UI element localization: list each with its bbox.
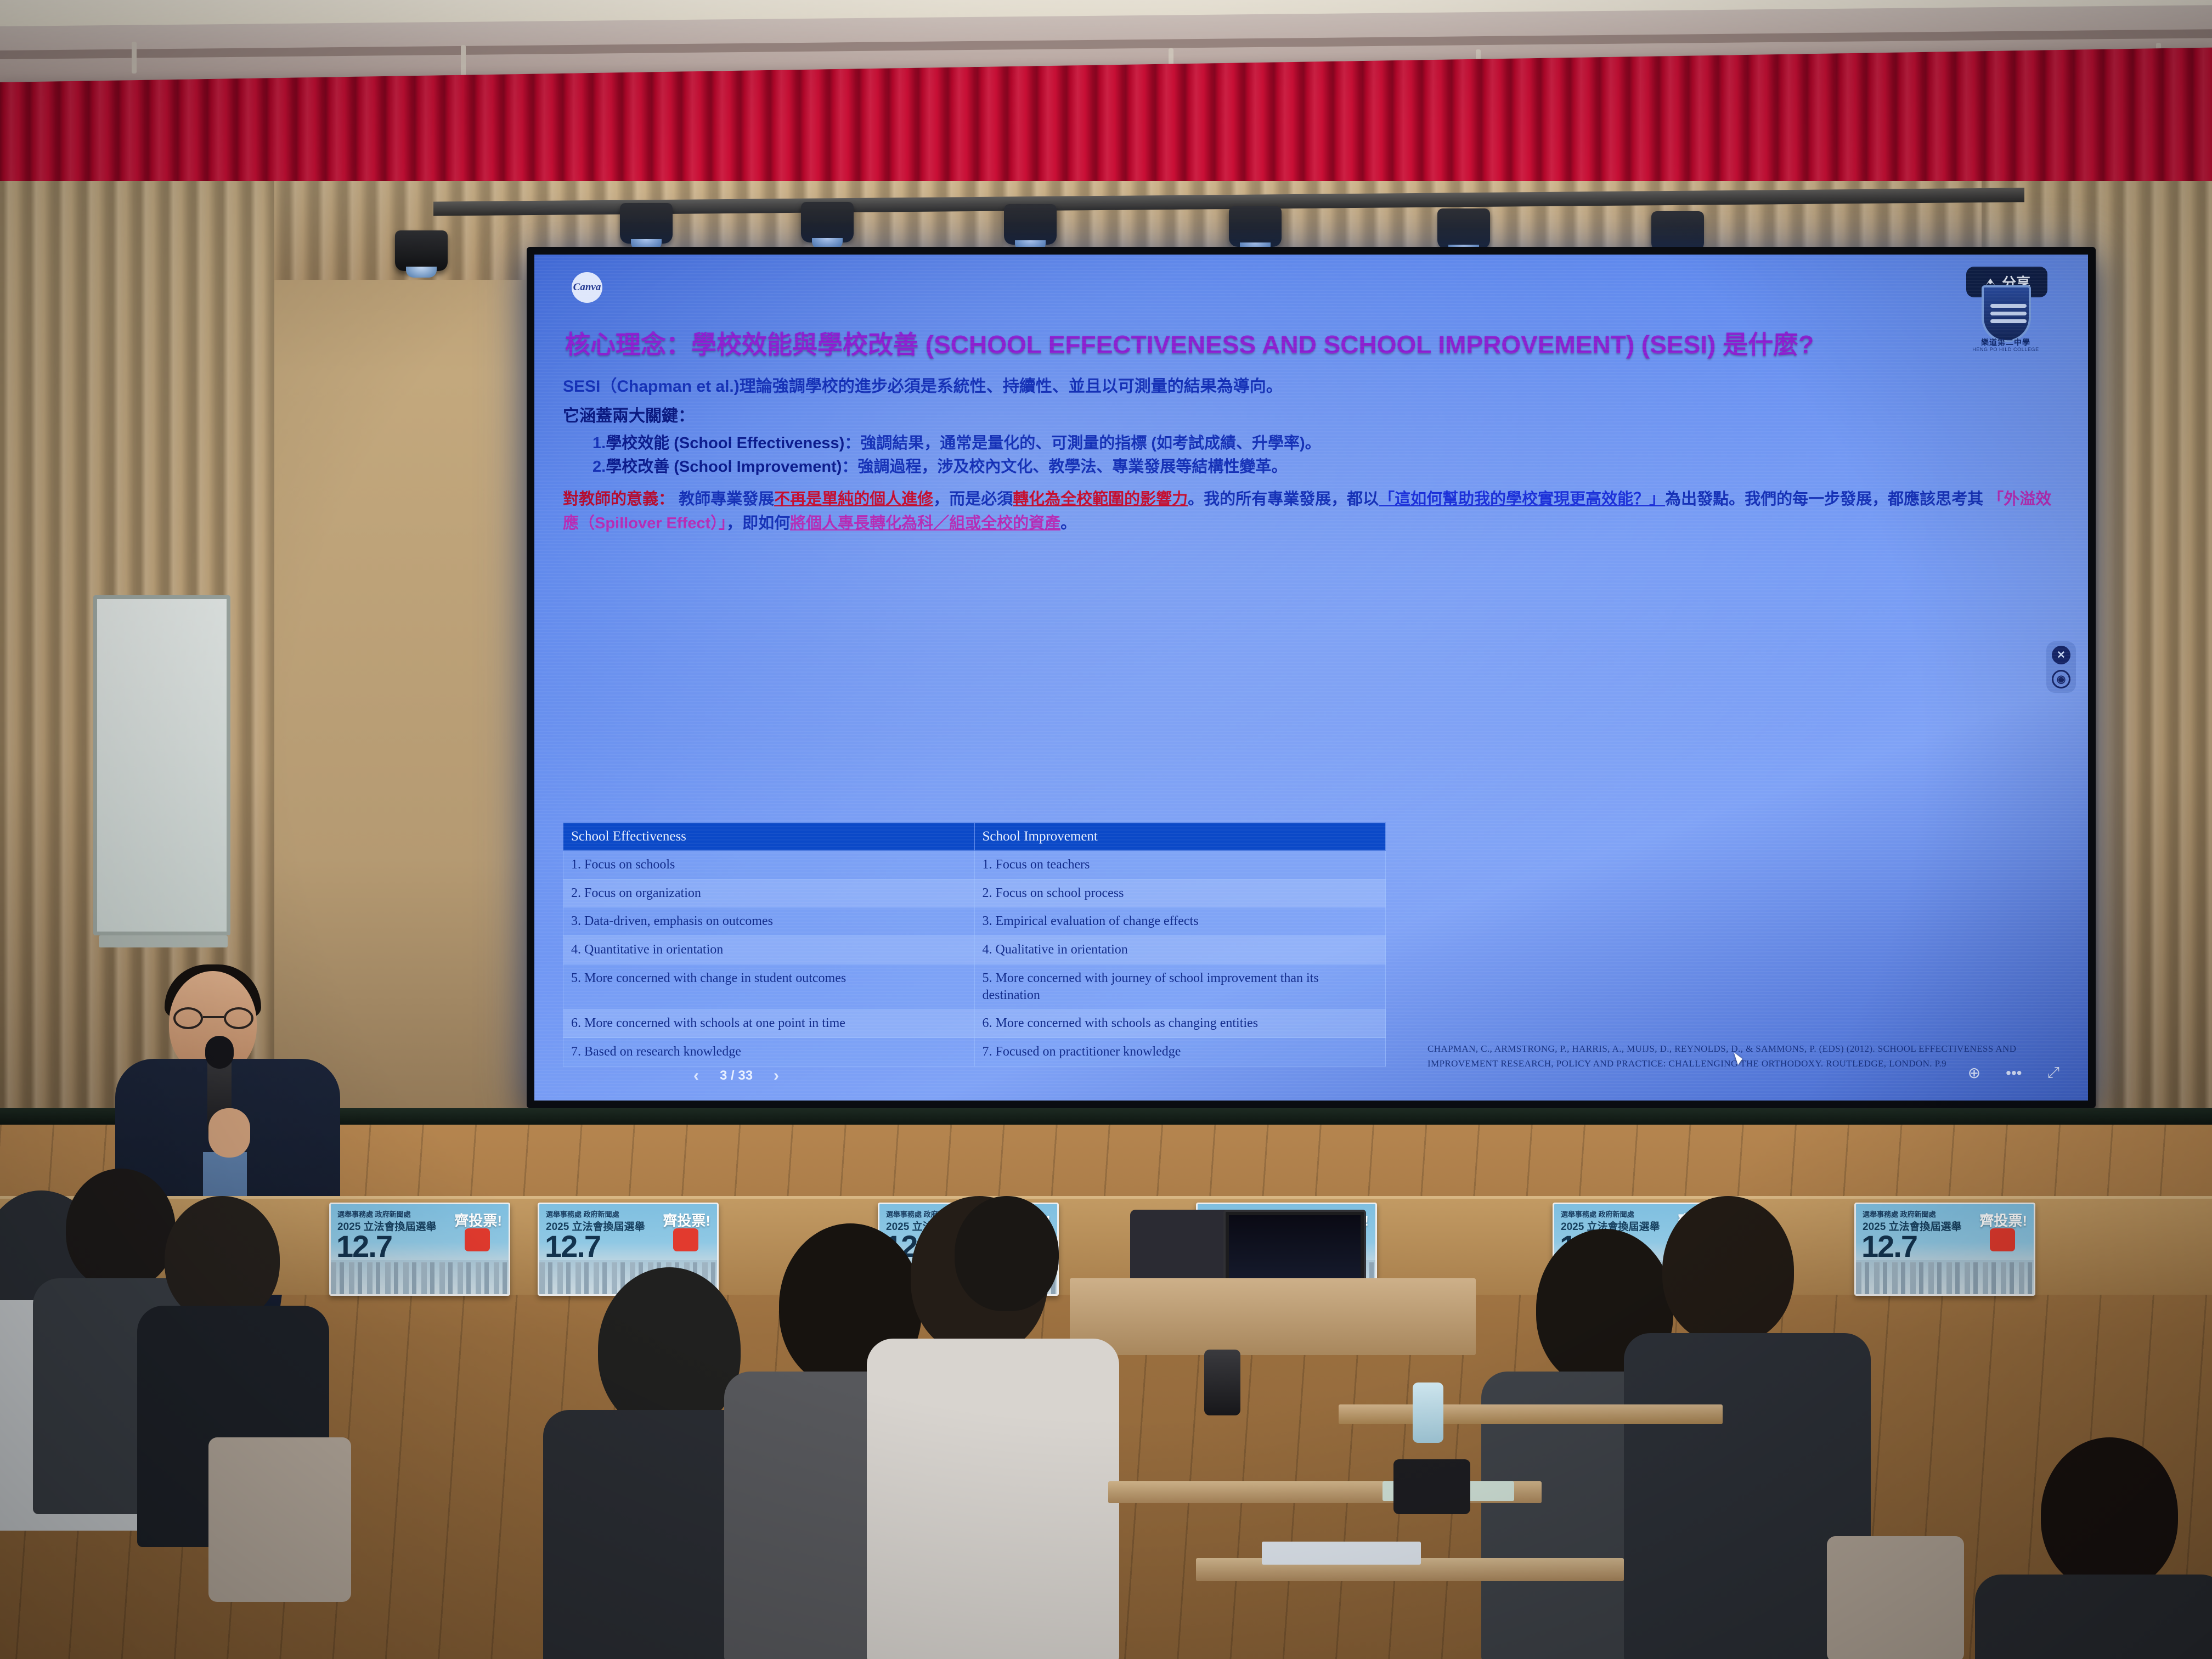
meaning-label: 對教師的意義： xyxy=(563,490,674,508)
list-item: 1.學校效能 (School Effectiveness)：強調結果，通常是量化… xyxy=(592,432,2059,456)
more-options-icon[interactable]: ••• xyxy=(2006,1064,2022,1082)
presentation-hall-scene: Canva 分享 樂道第二中學 HENG PO HILD COLLE xyxy=(0,0,2212,1659)
poster-mascot-icon xyxy=(465,1228,490,1251)
bullet-key: 學校效能 (School Effectiveness) xyxy=(606,435,844,452)
election-poster: 選舉事務處 政府新聞處 2025 立法會換屆選舉 12.7 齊投票! xyxy=(329,1203,510,1296)
record-icon[interactable]: ◉ xyxy=(2052,670,2070,689)
slide-content: Canva 分享 樂道第二中學 HENG PO HILD COLLE xyxy=(534,255,2088,1101)
table-row: 2. Focus on organization 2. Focus on sch… xyxy=(563,879,1386,907)
cell-improvement: 3. Empirical evaluation of change effect… xyxy=(974,907,1386,936)
meaning-seg-2: ，而是必須 xyxy=(933,490,1013,508)
bullet-number: 1. xyxy=(592,435,606,452)
edge-control-group[interactable]: ✕ ◉ xyxy=(2046,641,2076,693)
presenter-hand xyxy=(208,1108,250,1158)
water-bottle xyxy=(1413,1383,1443,1443)
meaning-seg-6: 。 xyxy=(1060,515,1076,532)
election-poster: 選舉事務處 政府新聞處 2025 立法會換屆選舉 12.7 齊投票! xyxy=(1854,1203,2035,1296)
audience-member xyxy=(598,1267,741,1432)
spotlight-icon xyxy=(620,203,673,244)
bullet-text: ：強調過程，涉及校內文化、教學法、專業發展等結構性變革。 xyxy=(842,458,1287,476)
list-item: 2.學校改善 (School Improvement)：強調過程，涉及校內文化、… xyxy=(592,455,2059,479)
bullet-text: ：強調結果，通常是量化的、可測量的指標 (如考試成績、升學率)。 xyxy=(844,435,1321,452)
table-row: 6. More concerned with schools at one po… xyxy=(563,1009,1386,1038)
projection-screen: Canva 分享 樂道第二中學 HENG PO HILD COLLE xyxy=(527,247,2096,1108)
close-icon[interactable]: ✕ xyxy=(2052,646,2070,664)
meaning-seg-3: 。我的所有專業發展，都以 xyxy=(1188,490,1379,508)
poster-date: 12.7 xyxy=(336,1228,392,1264)
audience-desk xyxy=(1339,1404,1723,1424)
slide-navigation[interactable]: ‹ 3 / 33 › xyxy=(693,1066,779,1085)
chair xyxy=(1827,1536,1964,1659)
cell-improvement: 2. Focus on school process xyxy=(974,879,1386,907)
key-points-list: 1.學校效能 (School Effectiveness)：強調結果，通常是量化… xyxy=(563,432,2059,479)
next-slide-button[interactable]: › xyxy=(774,1066,779,1085)
slide-surface: Canva 分享 樂道第二中學 HENG PO HILD COLLE xyxy=(534,255,2088,1101)
bullet-key: 學校改善 (School Improvement) xyxy=(606,458,842,476)
cell-improvement: 1. Focus on teachers xyxy=(974,851,1386,879)
audience-member xyxy=(66,1169,176,1289)
prev-slide-button[interactable]: ‹ xyxy=(693,1066,699,1085)
spotlight-icon xyxy=(801,202,854,242)
poster-header: 選舉事務處 政府新聞處 xyxy=(337,1209,411,1219)
table-body: 1. Focus on schools 1. Focus on teachers… xyxy=(563,851,1386,1066)
cell-effectiveness: 6. More concerned with schools at one po… xyxy=(563,1009,975,1038)
presenter-table xyxy=(1070,1278,1476,1355)
spotlight-icon xyxy=(1651,211,1704,252)
slide-lead-line: SESI（Chapman et al.)理論強調學校的進步必須是系統性、持續性、… xyxy=(563,374,2059,399)
curtain-hook xyxy=(132,42,137,74)
cell-effectiveness: 2. Focus on organization xyxy=(563,879,975,907)
meaning-seg-1: 教師專業發展 xyxy=(679,490,774,508)
audience-member xyxy=(867,1339,1119,1659)
table-row: 5. More concerned with change in student… xyxy=(563,964,1386,1009)
poster-header: 選舉事務處 政府新聞處 xyxy=(1561,1209,1634,1219)
slide-title: 核心理念：學校效能與學校改善 (SCHOOL EFFECTIVENESS AND… xyxy=(565,329,1827,361)
poster-date: 12.7 xyxy=(545,1228,600,1264)
table-row: 7. Based on research knowledge 7. Focuse… xyxy=(563,1038,1386,1066)
curtain-hook xyxy=(461,45,466,77)
audience-member xyxy=(2041,1437,2178,1591)
laptop xyxy=(1223,1210,1366,1286)
camera-bag xyxy=(1393,1459,1470,1514)
poster-slogan: 齊投票! xyxy=(1979,1210,2027,1230)
meaning-seg-4: 為出發點。我們的每一步發展，都應該思考其 xyxy=(1665,490,1988,508)
crest-shield-icon xyxy=(1982,285,2031,342)
whiteboard-tray xyxy=(99,935,228,947)
page-indicator: 3 / 33 xyxy=(720,1068,753,1084)
audience-member xyxy=(1975,1575,2212,1659)
eyeglasses-icon xyxy=(173,1007,253,1029)
poster-header: 選舉事務處 政府新聞處 xyxy=(546,1209,619,1219)
school-crest: 分享 樂道第二中學 HENG PO HILD COLLEGE xyxy=(1956,267,2055,354)
cell-effectiveness: 7. Based on research knowledge xyxy=(563,1038,975,1066)
meaning-seg-5: ，即如何 xyxy=(726,515,790,532)
spotlight-icon xyxy=(1229,206,1282,247)
poster-slogan: 齊投票! xyxy=(663,1210,710,1230)
canva-logo-icon: Canva xyxy=(572,272,602,303)
slide-lead-line-2: 它涵蓋兩大關鍵： xyxy=(563,402,2059,426)
cell-improvement: 6. More concerned with schools as changi… xyxy=(974,1009,1386,1038)
cell-effectiveness: 3. Data-driven, emphasis on outcomes xyxy=(563,907,975,936)
notebook xyxy=(1262,1542,1421,1565)
table-row: 1. Focus on schools 1. Focus on teachers xyxy=(563,851,1386,879)
meaning-underline-red-2: 轉化為全校範圍的影響力 xyxy=(1013,490,1188,508)
table-row: 3. Data-driven, emphasis on outcomes 3. … xyxy=(563,907,1386,936)
teacher-meaning-paragraph: 對教師的意義： 教師專業發展不再是單純的個人進修，而是必須轉化為全校範圍的影響力… xyxy=(563,487,2059,535)
whiteboard xyxy=(93,595,230,935)
school-name-zh: 樂道第二中學 xyxy=(1956,337,2055,348)
chair xyxy=(208,1437,351,1602)
cell-improvement: 4. Qualitative in orientation xyxy=(974,936,1386,964)
spotlight-icon xyxy=(1004,204,1057,245)
cell-improvement: 7. Focused on practitioner knowledge xyxy=(974,1038,1386,1066)
comparison-table: School Effectiveness School Improvement … xyxy=(563,822,1386,1066)
meaning-underline-blue: 「這如何幫助我的學校實現更高效能？」 xyxy=(1379,490,1665,508)
poster-date: 12.7 xyxy=(1861,1228,1917,1264)
column-header-improvement: School Improvement xyxy=(974,823,1386,851)
cell-effectiveness: 4. Quantitative in orientation xyxy=(563,936,975,964)
table-header-row: School Effectiveness School Improvement xyxy=(563,823,1386,851)
zoom-in-icon[interactable]: ⊕ xyxy=(1968,1064,1980,1082)
thermos xyxy=(1204,1350,1240,1415)
bullet-number: 2. xyxy=(592,458,606,476)
cell-effectiveness: 5. More concerned with change in student… xyxy=(563,964,975,1009)
poster-mascot-icon xyxy=(1990,1228,2015,1251)
meaning-underline-magenta: 將個人專長轉化為科／組或全校的資產 xyxy=(790,515,1060,532)
meaning-underline-red-1: 不再是單純的個人進修 xyxy=(774,490,933,508)
spotlight-icon xyxy=(1437,208,1490,249)
poster-header: 選舉事務處 政府新聞處 xyxy=(1863,1209,1936,1219)
audience-member xyxy=(1662,1196,1794,1344)
fullscreen-icon[interactable]: ⤢ xyxy=(2047,1064,2059,1082)
cell-improvement: 5. More concerned with journey of school… xyxy=(974,964,1386,1009)
cell-effectiveness: 1. Focus on schools xyxy=(563,851,975,879)
table-row: 4. Quantitative in orientation 4. Qualit… xyxy=(563,936,1386,964)
lead-text: SESI（Chapman et al.)理論強調學校的進步必須是系統性、持續性、… xyxy=(563,377,1283,396)
school-name-en: HENG PO HILD COLLEGE xyxy=(1956,347,2055,352)
viewer-toolbar[interactable]: ⊕ ••• ⤢ xyxy=(1968,1064,2059,1082)
column-header-effectiveness: School Effectiveness xyxy=(563,823,975,851)
poster-mascot-icon xyxy=(673,1228,698,1251)
audience-member xyxy=(955,1196,1059,1311)
poster-slogan: 齊投票! xyxy=(454,1210,502,1230)
spotlight-icon xyxy=(395,230,448,271)
audience-member xyxy=(165,1196,280,1322)
